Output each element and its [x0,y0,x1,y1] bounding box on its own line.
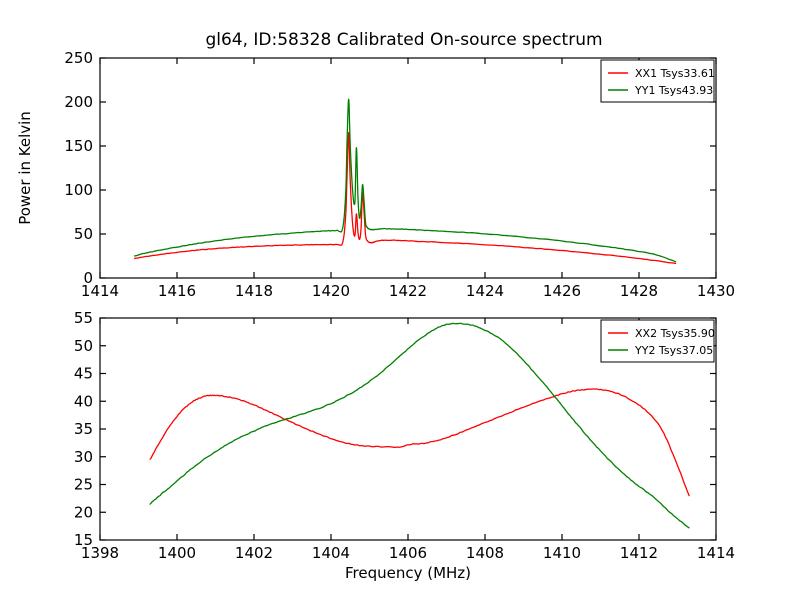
x-tick-label: 1414 [697,544,735,562]
y-tick-label: 30 [74,448,93,466]
x-tick-label: 1402 [235,544,273,562]
x-tick-label: 1418 [235,282,273,300]
legend-label: YY1 Tsys43.93 [634,84,713,97]
plot-canvas: gl64, ID:58328 Calibrated On-source spec… [0,0,800,600]
x-tick-label: 1420 [312,282,350,300]
y-tick-label: 20 [74,503,93,521]
y-tick-label: 0 [83,269,93,287]
y-tick-label: 150 [64,137,93,155]
bottom-x-axis-label: Frequency (MHz) [345,564,471,582]
y-tick-label: 200 [64,93,93,111]
page-title: gl64, ID:58328 Calibrated On-source spec… [205,30,602,50]
x-tick-label: 1422 [389,282,427,300]
y-tick-label: 15 [74,531,93,549]
y-tick-label: 250 [64,49,93,67]
top-panel-legend[interactable]: XX1 Tsys33.61YY1 Tsys43.93 [601,60,715,102]
x-tick-label: 1416 [158,282,196,300]
x-tick-label: 1400 [158,544,196,562]
y-tick-label: 100 [64,181,93,199]
x-tick-label: 1424 [466,282,504,300]
y-tick-label: 40 [74,392,93,410]
spectrum-figure: gl64, ID:58328 Calibrated On-source spec… [0,0,800,600]
x-tick-label: 1408 [466,544,504,562]
x-tick-label: 1406 [389,544,427,562]
legend-label: XX2 Tsys35.90 [635,327,715,340]
x-tick-label: 1430 [697,282,735,300]
x-tick-label: 1428 [620,282,658,300]
x-tick-label: 1412 [620,544,658,562]
x-tick-label: 1404 [312,544,350,562]
y-tick-label: 50 [74,225,93,243]
bottom-panel-legend[interactable]: XX2 Tsys35.90YY2 Tsys37.05 [601,320,715,362]
y-tick-label: 35 [74,420,93,438]
y-tick-label: 45 [74,365,93,383]
y-tick-label: 55 [74,309,93,327]
y-tick-label: 50 [74,337,93,355]
legend-label: YY2 Tsys37.05 [634,344,713,357]
x-tick-label: 1410 [543,544,581,562]
legend-label: XX1 Tsys33.61 [635,67,715,80]
x-tick-label: 1426 [543,282,581,300]
top-y-axis-label: Power in Kelvin [16,111,34,225]
y-tick-label: 25 [74,476,93,494]
